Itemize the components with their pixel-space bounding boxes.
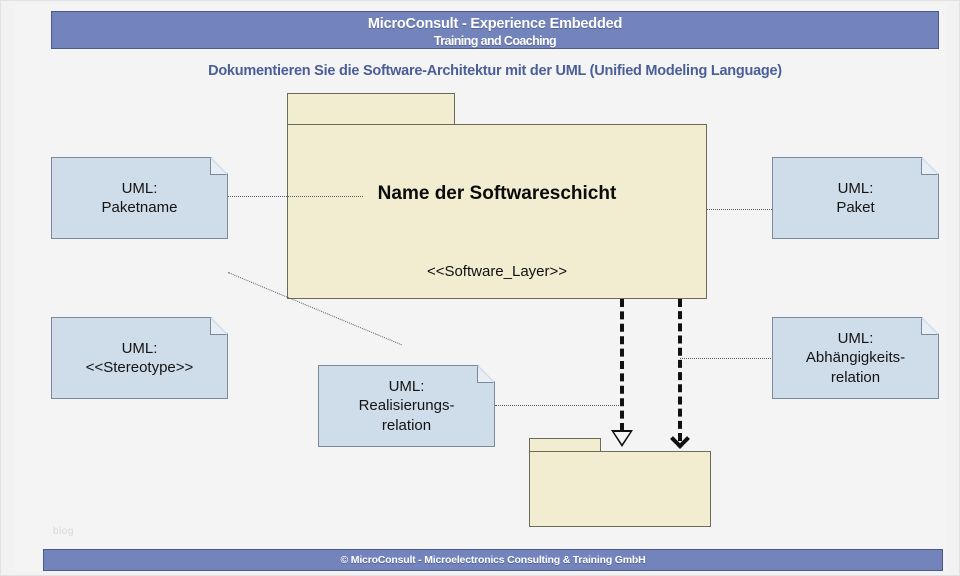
note-paketname-line2: Paketname <box>102 198 178 217</box>
note-realisierungsrelation-line3: relation <box>359 416 455 435</box>
note-fold-corner-icon <box>477 366 494 383</box>
realization-dashed-line <box>620 299 624 431</box>
connector-abhaengigkeitsrelation <box>680 358 773 359</box>
note-paketname-line1: UML: <box>102 179 178 198</box>
note-fold-corner-icon <box>921 318 938 335</box>
main-package-name: Name der Softwareschicht <box>287 183 707 205</box>
note-abhaengigkeitsrelation-line2: Abhängigkeits- <box>806 348 905 367</box>
slide-canvas: MicroConsult - Experience Embedded Train… <box>0 0 960 576</box>
note-fold-corner-icon <box>921 158 938 175</box>
connector-paket <box>707 209 772 210</box>
open-arrowhead-icon <box>670 429 690 449</box>
note-fold-corner-icon <box>210 318 227 335</box>
note-paketname[interactable]: UML: Paketname <box>51 157 228 239</box>
note-abhaengigkeitsrelation-text: UML: Abhängigkeits- relation <box>800 327 911 389</box>
note-stereotype-line2: <<Stereotype>> <box>86 358 194 377</box>
connector-realisierungsrelation <box>495 405 623 406</box>
note-abhaengigkeitsrelation-line1: UML: <box>806 329 905 348</box>
footer-copyright-text: © MicroConsult - Microelectronics Consul… <box>341 554 646 566</box>
header-banner: MicroConsult - Experience Embedded Train… <box>51 11 939 49</box>
header-title-secondary: Training and Coaching <box>52 33 938 49</box>
note-paket-line1: UML: <box>836 179 874 198</box>
note-paket[interactable]: UML: Paket <box>772 157 939 239</box>
dependency-dashed-line <box>678 299 682 441</box>
note-paketname-text: UML: Paketname <box>96 177 184 219</box>
note-realisierungsrelation[interactable]: UML: Realisierungs- relation <box>318 365 495 447</box>
note-realisierungsrelation-line1: UML: <box>359 377 455 396</box>
note-stereotype-text: UML: <<Stereotype>> <box>80 337 200 379</box>
main-package-stereotype: <<Software_Layer>> <box>287 263 707 280</box>
note-realisierungsrelation-text: UML: Realisierungs- relation <box>353 375 461 437</box>
note-abhaengigkeitsrelation-line3: relation <box>806 368 905 387</box>
hollow-triangle-arrowhead-fill <box>614 432 630 444</box>
note-fold-corner-icon <box>210 158 227 175</box>
note-stereotype[interactable]: UML: <<Stereotype>> <box>51 317 228 399</box>
footer-banner: © MicroConsult - Microelectronics Consul… <box>43 549 943 571</box>
note-paket-text: UML: Paket <box>830 177 880 219</box>
header-title-primary: MicroConsult - Experience Embedded <box>52 15 938 33</box>
note-paket-line2: Paket <box>836 198 874 217</box>
note-realisierungsrelation-line2: Realisierungs- <box>359 396 455 415</box>
sub-package-body[interactable] <box>529 451 711 527</box>
main-package-tab <box>287 93 455 125</box>
connector-paketname <box>228 196 363 197</box>
watermark-text: blog <box>53 526 74 537</box>
note-abhaengigkeitsrelation[interactable]: UML: Abhängigkeits- relation <box>772 317 939 399</box>
slide-subtitle: Dokumentieren Sie die Software-Architekt… <box>15 63 960 79</box>
diagram-surface: MicroConsult - Experience Embedded Train… <box>15 5 947 571</box>
note-stereotype-line1: UML: <box>86 339 194 358</box>
sub-package-tab <box>529 438 601 452</box>
